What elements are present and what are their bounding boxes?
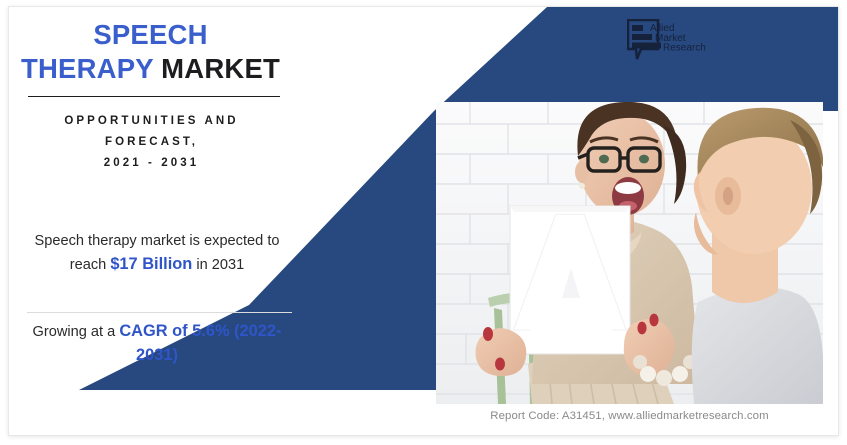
subtitle: OPPORTUNITIES AND FORECAST, 2021 - 2031 [19,111,284,174]
footer-report-code: Report Code: A31451, www.alliedmarketres… [436,410,823,422]
title-divider [28,96,280,97]
allied-market-research-logo: Allied Market Research [627,19,707,61]
boy-shirt [692,287,823,404]
subtitle-line1: OPPORTUNITIES AND [64,115,238,127]
cagr-statement: Growing at a CAGR of 5.6% (2022-2031) [21,320,293,367]
title-line1: SPEECH [93,19,207,50]
page-title: SPEECH THERAPY MARKET [9,18,292,86]
stats-divider [27,312,292,313]
market-value-statement: Speech therapy market is expected to rea… [21,230,293,276]
infographic-card: SPEECH THERAPY MARKET OPPORTUNITIES AND … [0,0,847,445]
hero-photo-illustration: A [436,102,823,404]
hero-photo: A [436,102,823,404]
subtitle-line2: FORECAST, [105,136,198,148]
title-line2-dark: MARKET [161,53,280,84]
stat2-prefix: Growing at a [33,324,120,340]
left-text-column: SPEECH THERAPY MARKET OPPORTUNITIES AND … [9,7,294,435]
logo-line3: Research [663,43,706,54]
stat1-suffix: in 2031 [192,257,244,273]
logo-line1: Allied [650,23,674,34]
stat1-emphasis: $17 Billion [110,255,192,273]
title-line2-highlight: THERAPY [21,53,153,84]
letter-card: A [509,178,630,366]
stat2-emphasis: CAGR of 5.6% (2022-2031) [119,322,281,364]
subtitle-line3: 2021 - 2031 [104,157,200,169]
